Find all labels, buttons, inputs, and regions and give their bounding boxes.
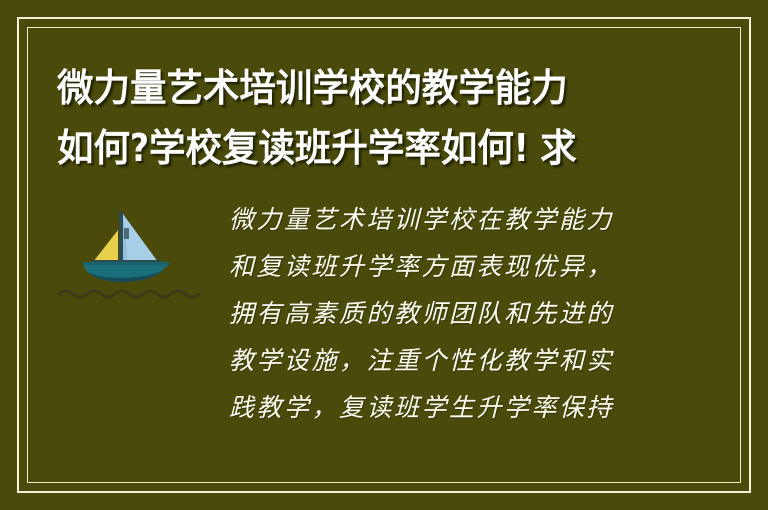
sailboat-icon bbox=[57, 202, 225, 302]
content-row: 微力量艺术培训学校在教学能力 和复读班升学率方面表现优异， 拥有高素质的教师团队… bbox=[57, 196, 718, 431]
body-line-1: 微力量艺术培训学校在教学能力 bbox=[229, 196, 718, 243]
title-line-1: 微力量艺术培训学校的教学能力 bbox=[57, 58, 691, 118]
body-text: 微力量艺术培训学校在教学能力 和复读班升学率方面表现优异， 拥有高素质的教师团队… bbox=[225, 196, 718, 431]
body-line-3: 拥有高素质的教师团队和先进的 bbox=[229, 290, 718, 337]
poster-canvas: 微力量艺术培训学校的教学能力 如何?学校复读班升学率如何! 求 bbox=[0, 0, 768, 510]
body-line-4: 教学设施，注重个性化教学和实 bbox=[229, 337, 718, 384]
title-line-2: 如何?学校复读班升学率如何! 求 bbox=[57, 118, 691, 178]
body-line-5: 践教学，复读班学生升学率保持 bbox=[229, 384, 718, 431]
illustration-column bbox=[57, 196, 225, 302]
body-line-2: 和复读班升学率方面表现优异， bbox=[229, 243, 718, 290]
poster-title: 微力量艺术培训学校的教学能力 如何?学校复读班升学率如何! 求 bbox=[57, 58, 717, 178]
